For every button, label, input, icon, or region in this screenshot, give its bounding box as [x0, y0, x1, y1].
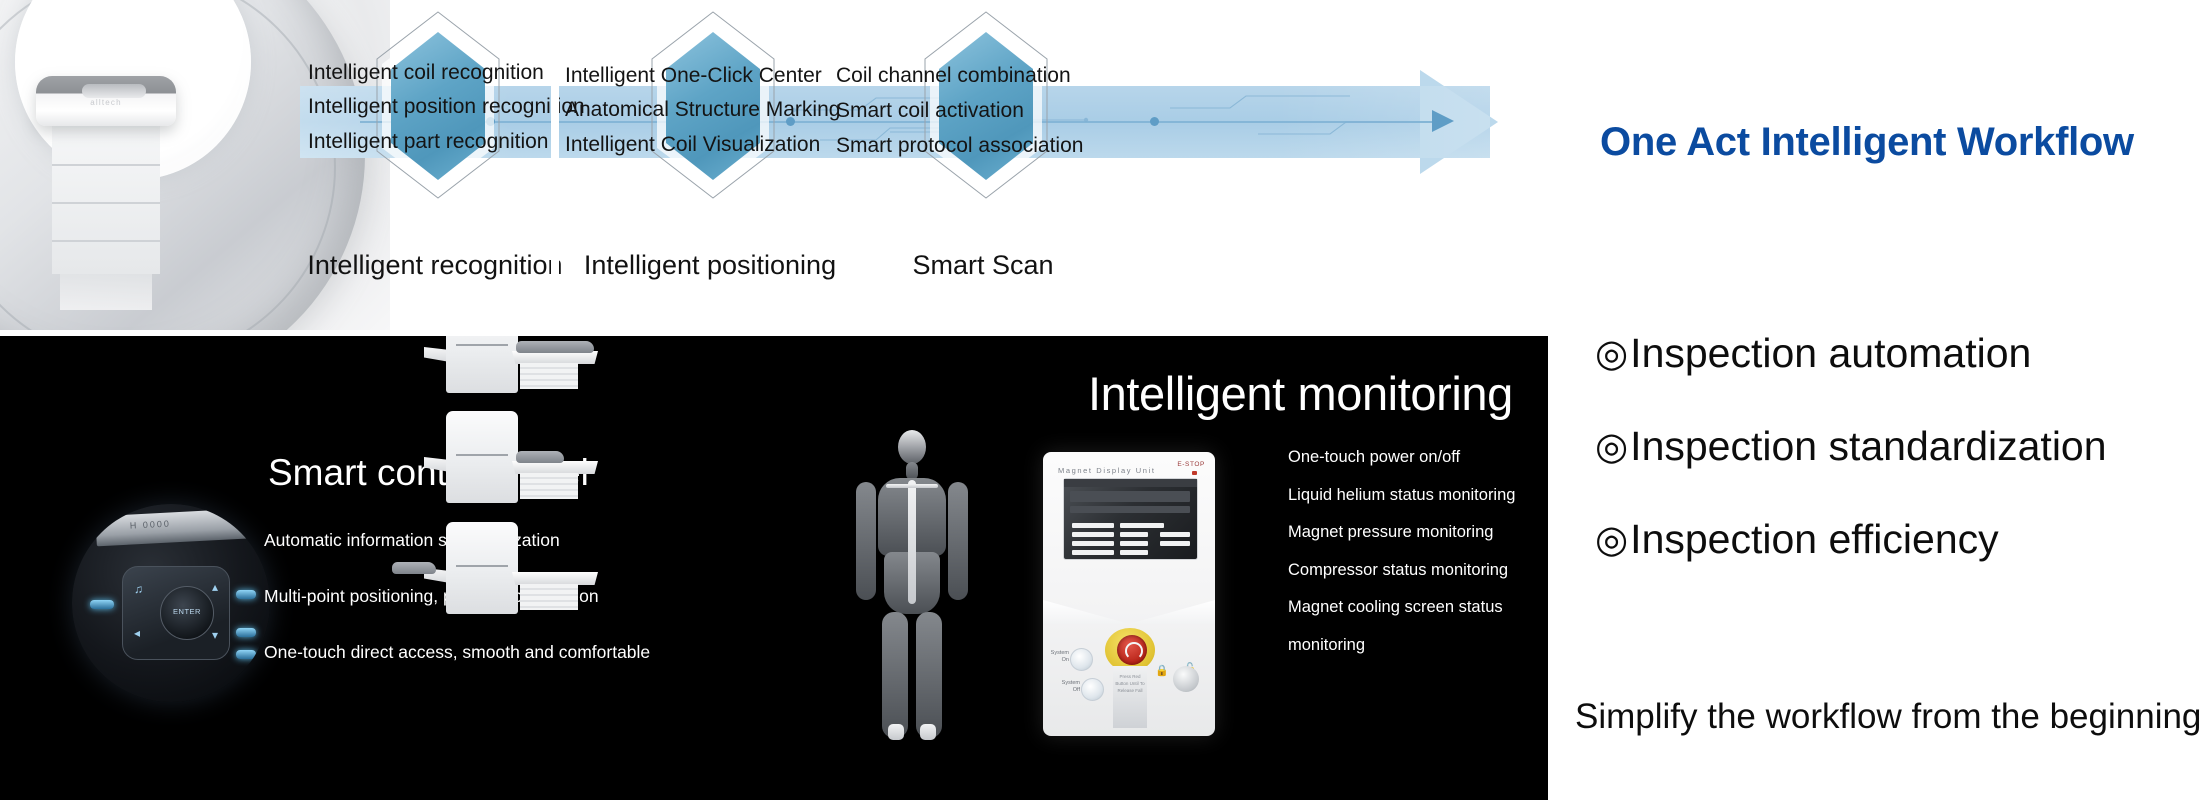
screen-field: [1160, 541, 1190, 546]
screen-field: [1072, 523, 1114, 528]
magnet-display-unit[interactable]: Magnet Display Unit E-STOP System: [1043, 452, 1215, 736]
stage2-item-2: Anatomical Structure Marking: [565, 98, 840, 122]
emergency-stop-button[interactable]: [1117, 635, 1147, 665]
patient-figure: [516, 341, 594, 353]
workflow-node-3: [1150, 117, 1159, 126]
coil-brand-label: alltech: [36, 98, 176, 107]
status-led: [236, 650, 256, 659]
mdu-bezel-fold: [1043, 600, 1215, 624]
gantry: [446, 522, 518, 614]
double-circle-icon: ◎: [1595, 521, 1628, 559]
headphone-icon: ♫: [134, 582, 143, 596]
table-base: [520, 473, 578, 499]
knob-top-bar: H 0000: [95, 508, 264, 547]
stage3-item-2: Smart coil activation: [836, 99, 1024, 123]
right-leg: [916, 612, 942, 738]
tagline: Simplify the workflow from the beginning: [1575, 697, 2195, 737]
mri-table-base: [60, 274, 152, 310]
arrow-up-icon: ▴: [212, 580, 218, 594]
estop-instruction-plate: Press Red Button Until To Release Fall: [1113, 666, 1147, 728]
monitoring-item: One-touch power on/off: [1288, 448, 1540, 467]
gantry: [446, 411, 518, 503]
table-base: [520, 584, 578, 610]
estop-text-label: E-STOP: [1177, 461, 1205, 468]
system-off-label: System Off: [1054, 680, 1080, 695]
stage1-item-1: Intelligent coil recognition: [308, 61, 544, 85]
mri-side-view-3: [424, 522, 599, 622]
estop-instruction-text: Press Red Button Until To Release Fall: [1113, 674, 1147, 694]
gantry: [446, 336, 518, 393]
exit-led: [90, 600, 114, 609]
mri-coil-slot: [82, 84, 146, 98]
benefit-item: ◎ Inspection standardization: [1595, 423, 2195, 470]
intelligent-monitoring-title: Intelligent monitoring: [1088, 366, 1513, 421]
left-leg: [882, 612, 908, 738]
screen-field: [1120, 523, 1164, 528]
workflow-arrowhead: [1432, 110, 1454, 132]
table-base: [520, 363, 578, 389]
status-led: [236, 590, 256, 599]
benefit-label: Inspection automation: [1630, 330, 2031, 377]
system-on-label: System On: [1043, 650, 1069, 665]
system-on-button[interactable]: [1070, 648, 1093, 671]
arrow-down-icon: ▾: [212, 628, 218, 642]
stage2-item-3: Intelligent Coil Visualization: [565, 133, 820, 157]
estop-led: [1192, 471, 1197, 475]
stage3-item-3: Smart protocol association: [836, 134, 1083, 158]
mri-side-view-1: [424, 336, 599, 401]
double-circle-icon: ◎: [1595, 428, 1628, 466]
knob-top-label: H 0000: [130, 518, 171, 530]
spine: [908, 480, 916, 604]
right-arm: [948, 482, 968, 600]
benefit-label: Inspection standardization: [1630, 423, 2106, 470]
monitoring-feature-list: One-touch power on/off Liquid helium sta…: [1288, 448, 1540, 673]
benefit-item: ◎ Inspection automation: [1595, 330, 2195, 377]
enter-dial[interactable]: ENTER: [160, 586, 214, 640]
power-symbol-icon: [1125, 642, 1143, 660]
right-foot: [920, 724, 936, 740]
dark-feature-panel: H 0000 ENTER ♫ ◂ ▴ ▾ Smart control panel…: [0, 336, 1548, 800]
screen-header-row: [1070, 491, 1190, 502]
screen-field: [1160, 532, 1190, 537]
patient-figure: [392, 562, 436, 574]
monitoring-item: Magnet pressure monitoring: [1288, 523, 1540, 542]
enter-dial-label: ENTER: [161, 607, 213, 616]
screen-field: [1072, 541, 1114, 546]
screen-field: [1072, 532, 1114, 537]
head-region: [898, 430, 926, 464]
volume-icon: ◂: [134, 626, 140, 640]
mri-side-view-2: [424, 411, 599, 511]
system-off-button[interactable]: [1081, 678, 1104, 701]
mri-head-coil: alltech: [36, 76, 176, 126]
screen-field: [1120, 550, 1148, 555]
control-panel-item: One-touch direct access, smooth and comf…: [264, 642, 650, 663]
screen-field: [1120, 541, 1148, 546]
whole-body-mri-image: [826, 424, 996, 744]
stage3-caption: Smart Scan: [818, 250, 1148, 281]
key-switch-knob[interactable]: [1173, 666, 1199, 692]
benefits-list: ◎ Inspection automation ◎ Inspection sta…: [1595, 330, 2195, 609]
lock-closed-icon: 🔒: [1155, 664, 1169, 677]
monitoring-item: monitoring: [1288, 636, 1540, 655]
screen-section-row: [1070, 506, 1190, 513]
status-led: [236, 628, 256, 637]
monitoring-item: Liquid helium status monitoring: [1288, 486, 1540, 505]
screen-field: [1120, 532, 1148, 537]
mri-patient-table: [52, 124, 160, 274]
stage3-item-1: Coil channel combination: [836, 64, 1071, 88]
workflow-stage-smart-scan[interactable]: Coil channel combination Smart coil acti…: [818, 0, 1148, 300]
patient-figure: [516, 451, 564, 463]
monitoring-item: Magnet cooling screen status: [1288, 598, 1540, 617]
screen-statusbar: [1064, 479, 1197, 487]
clavicle: [886, 484, 938, 488]
control-knob-closeup: H 0000 ENTER ♫ ◂ ▴ ▾: [72, 504, 270, 702]
slide-canvas: alltech Intelligent coil recognition Int…: [0, 0, 2200, 800]
screen-field: [1072, 550, 1114, 555]
stage1-item-3: Intelligent part recognition: [308, 130, 549, 154]
double-circle-icon: ◎: [1595, 335, 1628, 373]
benefit-item: ◎ Inspection efficiency: [1595, 516, 2195, 563]
stage1-item-2: Intelligent position recognition: [308, 95, 585, 119]
mdu-title-label: Magnet Display Unit: [1058, 466, 1156, 475]
page-title: One Act Intelligent Workflow: [1600, 120, 2190, 165]
left-foot: [888, 724, 904, 740]
left-arm: [856, 482, 876, 600]
stage2-item-1: Intelligent One-Click Center: [565, 64, 822, 88]
mdu-screen[interactable]: [1063, 478, 1198, 560]
monitoring-item: Compressor status monitoring: [1288, 561, 1540, 580]
benefit-label: Inspection efficiency: [1630, 516, 1998, 563]
